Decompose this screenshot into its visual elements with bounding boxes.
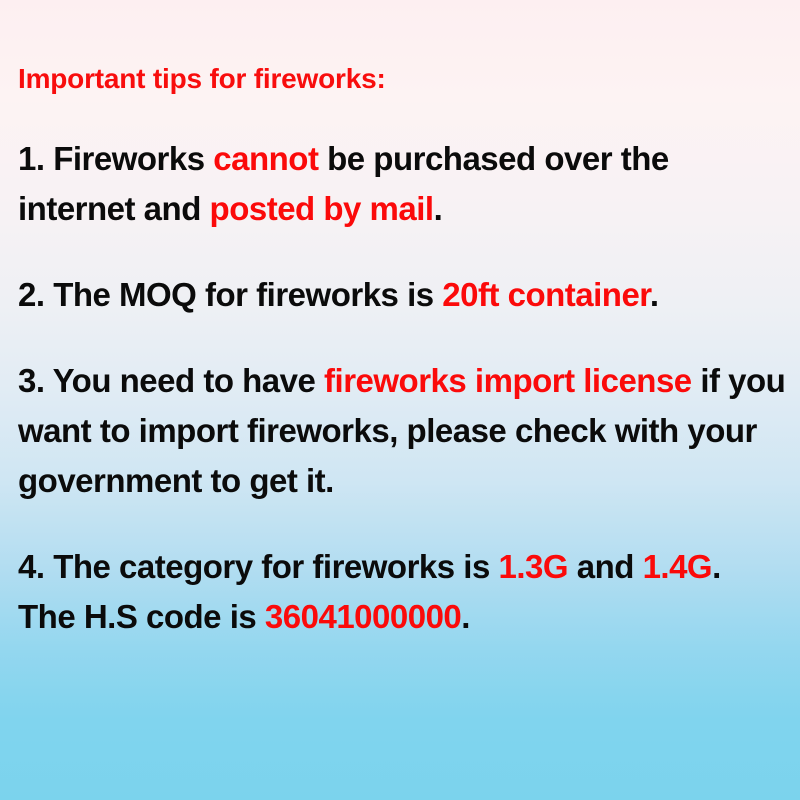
tip-2-highlight-1: 20ft container (442, 276, 650, 313)
tip-item-2: 2. The MOQ for fireworks is 20ft contain… (18, 270, 786, 320)
tip-1-highlight-3: posted by mail (210, 190, 434, 227)
tip-3-highlight-1: fireworks import license (324, 362, 692, 399)
fireworks-tips-poster: Important tips for fireworks: 1. Firewor… (0, 0, 800, 800)
tip-4-highlight-3: 1.4G (643, 548, 713, 585)
tip-4-text-0: 4. The category for fireworks is (18, 548, 499, 585)
tip-4-text-6: . (461, 598, 470, 635)
tip-1-text-4: . (434, 190, 443, 227)
poster-content: Important tips for fireworks: 1. Firewor… (18, 62, 786, 642)
tip-2-text-2: . (650, 276, 659, 313)
tip-item-3: 3. You need to have fireworks import lic… (18, 356, 786, 506)
tip-4-highlight-5: 36041000000 (265, 598, 461, 635)
tip-4-text-2: and (568, 548, 643, 585)
page-title: Important tips for fireworks: (18, 62, 786, 96)
tip-2-text-0: 2. The MOQ for fireworks is (18, 276, 442, 313)
tip-item-4: 4. The category for fireworks is 1.3G an… (18, 542, 786, 642)
tip-3-text-0: 3. You need to have (18, 362, 324, 399)
tip-item-1: 1. Fireworks cannot be purchased over th… (18, 134, 786, 234)
tip-1-highlight-1: cannot (213, 140, 318, 177)
tip-1-text-0: 1. Fireworks (18, 140, 213, 177)
tip-4-highlight-1: 1.3G (499, 548, 569, 585)
